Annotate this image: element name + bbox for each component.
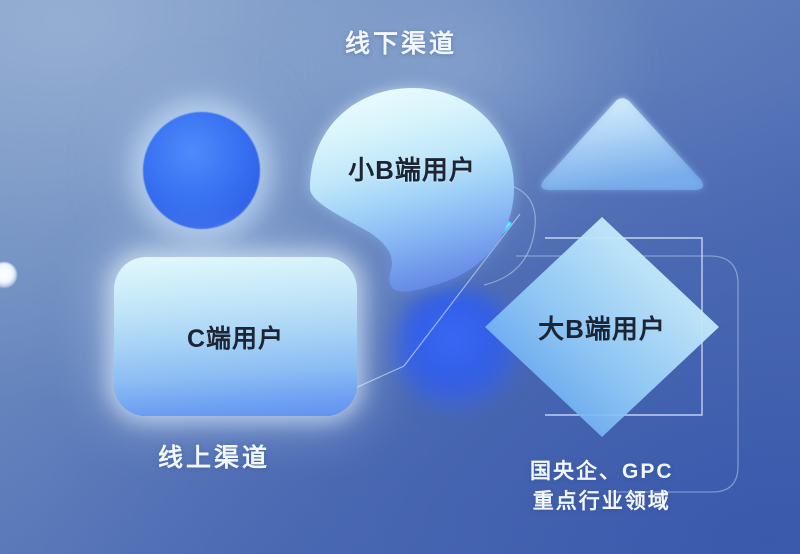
rounded-triangle-decoration bbox=[537, 96, 707, 194]
caption-offline-channel: 线下渠道 bbox=[345, 24, 457, 60]
caption-online-channel: 线上渠道 bbox=[158, 438, 270, 474]
caption-enterprise-line-2: 重点行业领域 bbox=[530, 487, 674, 517]
blue-sphere-decoration bbox=[143, 112, 260, 229]
node-small-b-end-user-label: 小B端用户 bbox=[303, 82, 521, 298]
white-dot-decoration bbox=[0, 262, 17, 288]
node-small-b-end-user[interactable]: 小B端用户 bbox=[303, 82, 521, 298]
caption-enterprise-sector: 国央企、GPC 重点行业领域 bbox=[530, 457, 674, 517]
diagram-canvas: C端用户 大B端用户 bbox=[0, 0, 800, 554]
sphere-halo-decoration bbox=[118, 92, 284, 252]
node-c-end-user-label: C端用户 bbox=[187, 319, 284, 355]
caption-enterprise-line-1: 国央企、GPC bbox=[530, 457, 674, 487]
